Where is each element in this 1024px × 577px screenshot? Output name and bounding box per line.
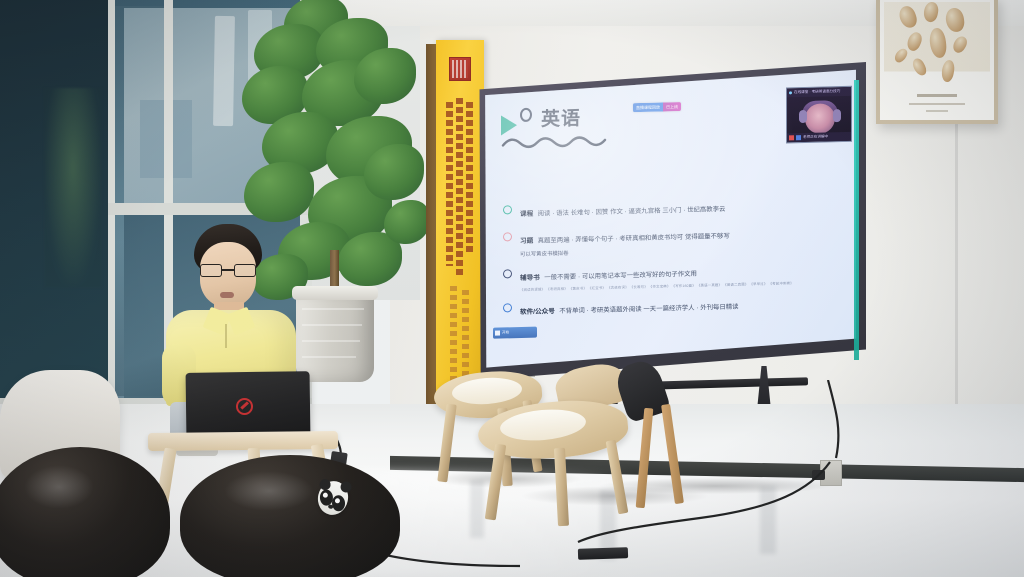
window-reflection: [213, 16, 235, 126]
television[interactable]: 英语 直播课程回放 已上线: [476, 62, 866, 380]
tv-edge-accent: [854, 80, 859, 360]
table: [148, 431, 338, 451]
power-adapter: [578, 547, 628, 560]
classroom-photo-scene: 英语 直播课程回放 已上线: [0, 0, 1024, 577]
artwork-caption: [909, 103, 965, 105]
screen-glare: [481, 68, 859, 370]
hair-highlight: [24, 465, 94, 509]
presenter-mouth: [220, 292, 234, 298]
student-front-left: [0, 447, 170, 577]
artwork-mat: [884, 2, 990, 114]
hair-highlight: [224, 471, 314, 511]
shirt-placket: [225, 324, 227, 348]
red-seal-pattern: [452, 60, 468, 78]
student-head: [0, 447, 170, 577]
tv-screen[interactable]: 英语 直播课程回放 已上线: [481, 68, 859, 370]
palm-behind-glass: [44, 88, 102, 288]
artwork-caption: [926, 110, 948, 112]
student-front-right: [180, 455, 400, 577]
glasses-icon: [200, 264, 256, 277]
artwork-caption: [917, 94, 957, 97]
